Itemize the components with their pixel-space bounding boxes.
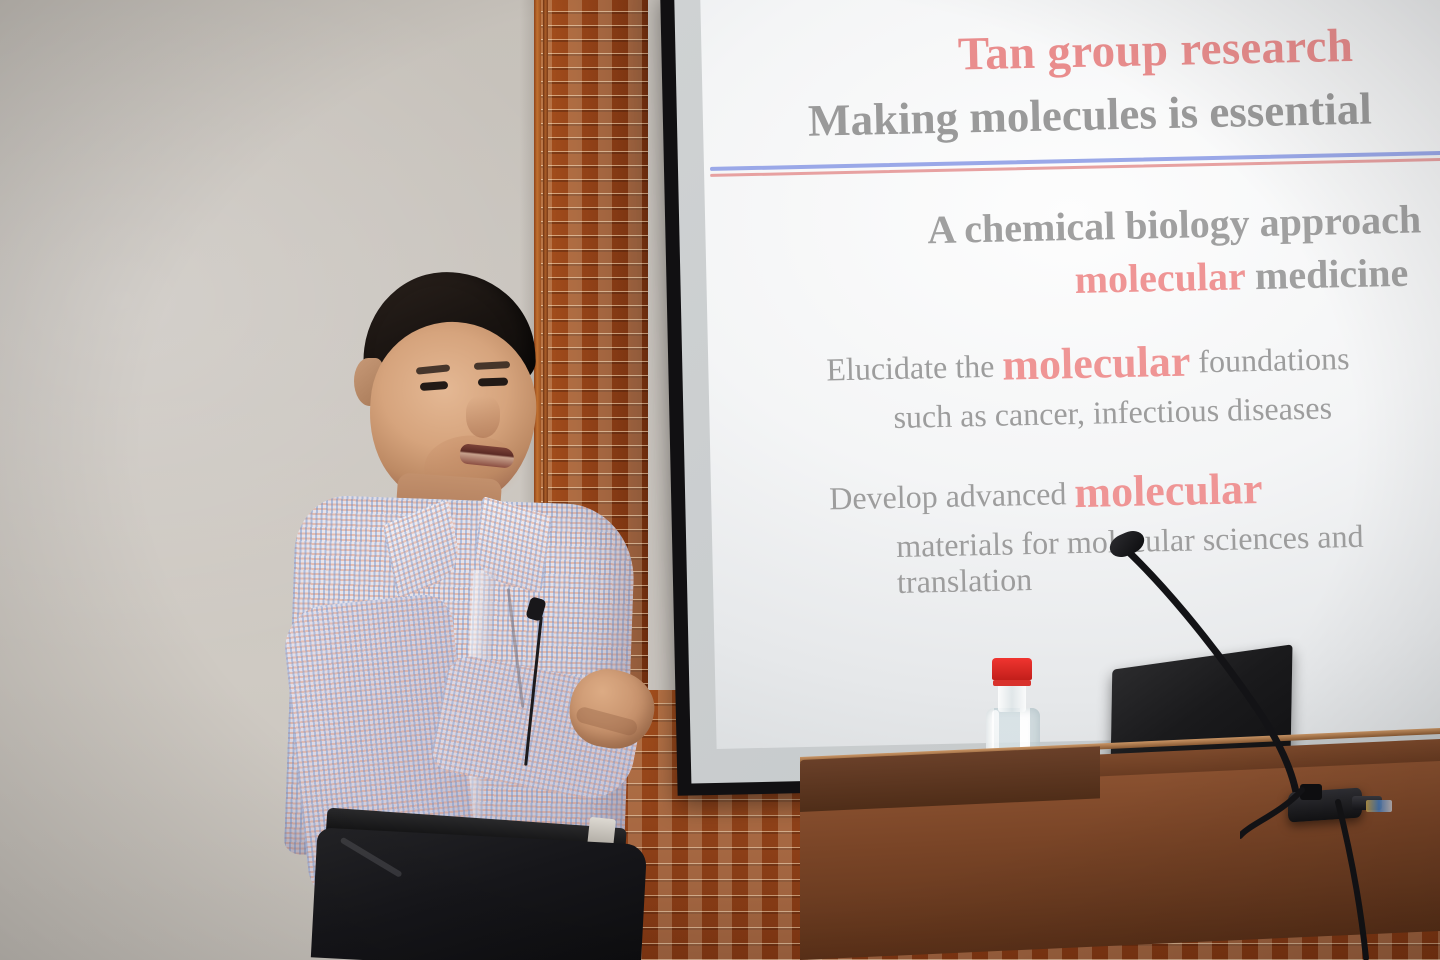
body2-pre: Develop advanced	[829, 475, 1075, 516]
presenter-eye-right	[478, 377, 508, 386]
body2-highlight: molecular	[1074, 464, 1263, 517]
slide-body-paragraph-1: Elucidate the molecular foundations such…	[826, 330, 1440, 437]
body1-pre: Elucidate the	[826, 348, 1003, 388]
microphone-gooseneck-stem	[1090, 520, 1380, 820]
slide-subtitle: Making molecules is essential	[716, 81, 1440, 149]
body1-post: foundations	[1190, 340, 1350, 379]
slide-heading-rest: medicine	[1244, 250, 1408, 299]
presenter	[270, 270, 700, 960]
presenter-nose	[466, 396, 500, 438]
lecture-photo-scene: Tan group research Making molecules is e…	[0, 0, 1440, 960]
body1-line2: such as cancer, infectious diseases	[893, 388, 1440, 436]
slide-divider	[710, 150, 1440, 177]
bottle-cap[interactable]	[992, 658, 1032, 680]
slide-heading-line-1: A chemical biology approach	[883, 194, 1440, 254]
bottle-neck	[998, 684, 1026, 712]
microphone-cable	[1240, 780, 1440, 960]
slide-heading-highlight: molecular	[1074, 253, 1245, 302]
slide-title: Tan group research	[849, 17, 1440, 84]
presenter-trousers	[311, 827, 647, 960]
bottle-tamper-ring	[993, 680, 1031, 686]
slide-heading-line-2: molecular medicine	[1016, 247, 1440, 304]
body1-highlight: molecular	[1002, 337, 1191, 390]
